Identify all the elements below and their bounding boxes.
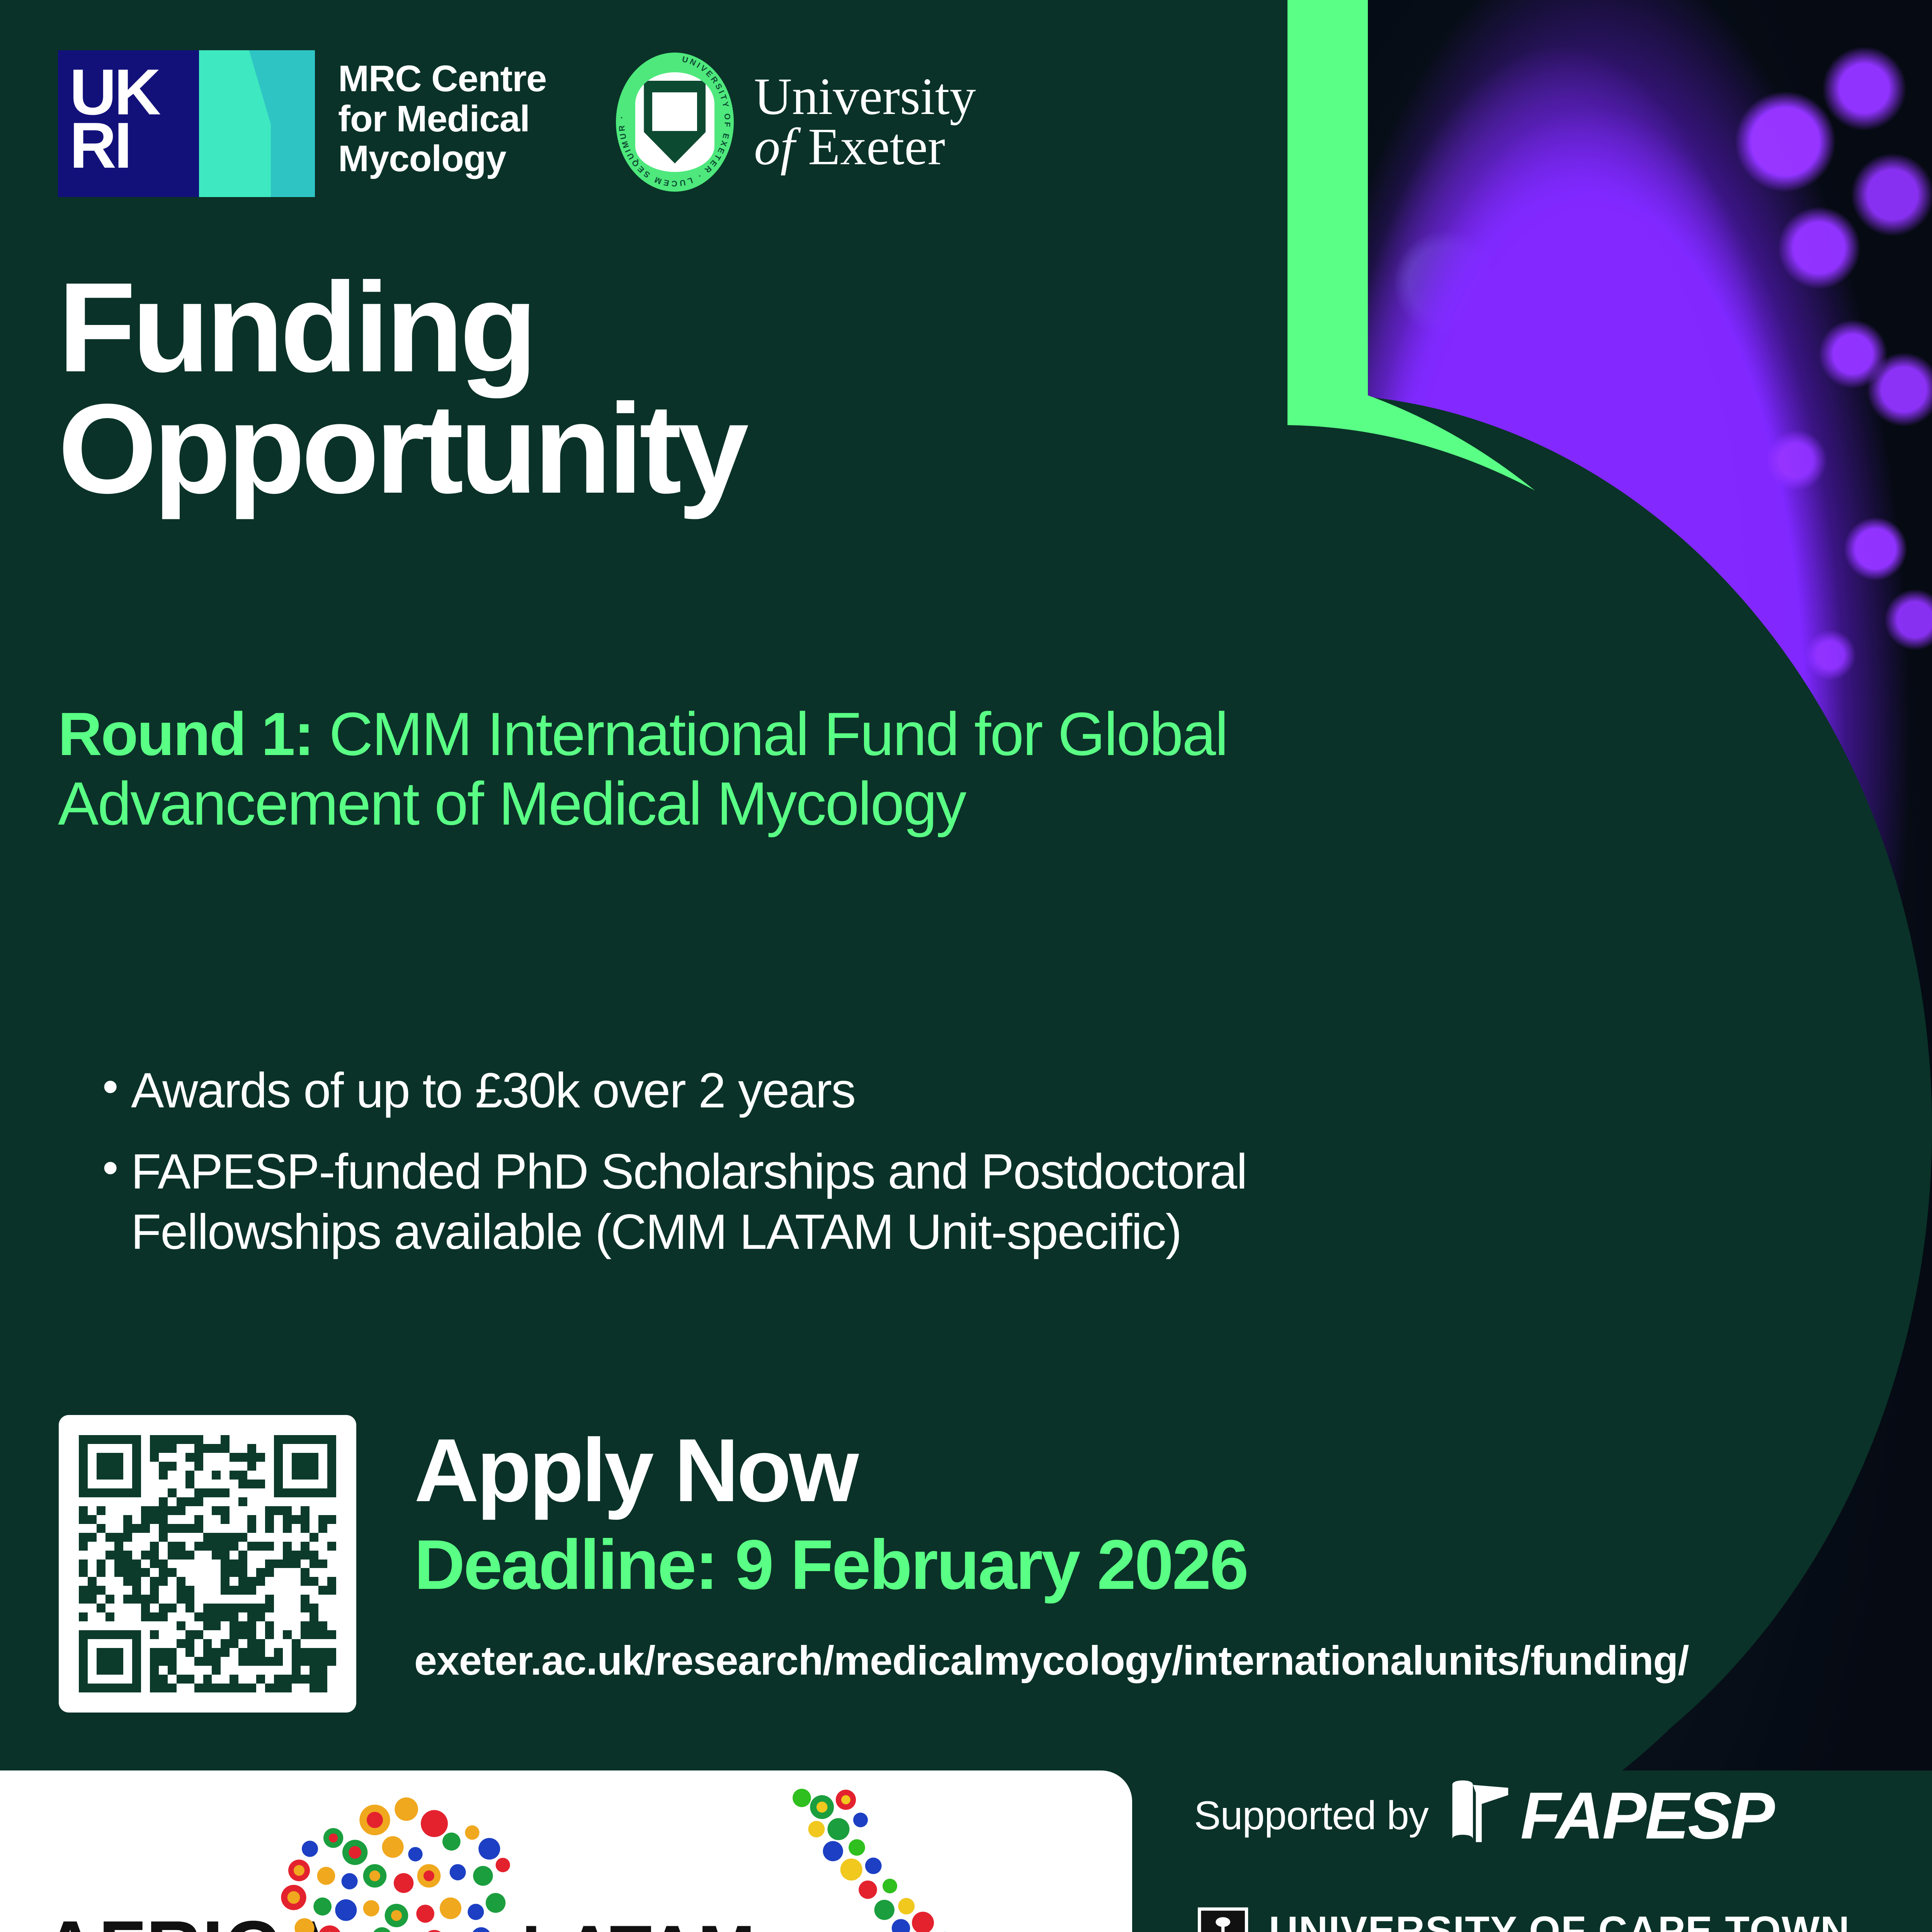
mrc-line-2: for Medical [338,99,546,139]
deadline-text: Deadline: 9 February 2026 [414,1529,1247,1600]
sponsors-block: Supported by FAPESP [1194,1777,1913,1932]
latin-america-map-icon [765,1776,1059,1932]
benefits-list: Awards of up to £30k over 2 years FAPESP… [102,1061,1262,1283]
uct-text-block: UNIVERSITY OF CAPE TOWN IYUNIVESITHI YAS… [1269,1911,1850,1932]
fapesp-sponsor: Supported by FAPESP [1194,1777,1913,1854]
headline-line-2: Opportunity [58,388,745,509]
header-logos: UKRI MRC Centre for Medical Mycology [58,50,976,197]
ukri-logo: UKRI [58,50,315,197]
supported-by-label: Supported by [1194,1793,1429,1839]
unit-logos-row: AFRICA CMM MEDICAL MYCOLOGY UNIT [0,1770,1132,1932]
poster: UKRI MRC Centre for Medical Mycology [0,0,1932,1932]
list-item: FAPESP-funded PhD Scholarships and Postd… [102,1142,1262,1262]
application-url[interactable]: exeter.ac.uk/research/medicalmycology/in… [414,1638,1689,1684]
round-label: Round 1: [58,700,313,768]
uct-sponsor: SPES BONA UNIVERSITY OF CAPE TOWN IYUNIV… [1194,1904,1913,1932]
africa-unit-name: AFRICA [43,1910,498,1932]
mrc-line-1: MRC Centre [338,59,546,99]
ukri-logo-box: UKRI [58,50,199,197]
headline-line-1: Funding [58,267,745,388]
ukri-logo-shape [199,50,315,197]
subtitle: Round 1: CMM International Fund for Glob… [58,699,1264,838]
qr-code[interactable] [59,1415,356,1713]
qr-code-matrix [79,1435,336,1692]
exeter-word-line2: of Exeter [754,122,976,172]
fapesp-logo: FAPESP [1446,1777,1774,1854]
exeter-crest-icon: UNIVERSITY OF EXETER · LUCEM SEQUIMUR · [616,53,734,192]
exeter-word-exeter: Exeter [808,118,945,176]
mrc-line-3: Mycology [338,139,546,179]
uct-shield-icon: SPES BONA [1194,1904,1252,1932]
exeter-shield-icon [644,81,706,163]
apply-now-heading: Apply Now [414,1426,857,1515]
fapesp-book-icon [1446,1779,1527,1852]
exeter-word-line1: University [754,72,976,122]
exeter-word-of: of [754,118,795,176]
fapesp-wordmark: FAPESP [1520,1777,1774,1854]
africa-unit-logo: AFRICA CMM MEDICAL MYCOLOGY UNIT [43,1910,498,1932]
ukri-wordmark: UKRI [58,50,199,197]
list-item: Awards of up to £30k over 2 years [102,1061,1262,1121]
exeter-crest-inner [635,72,714,172]
university-of-exeter-logo: UNIVERSITY OF EXETER · LUCEM SEQUIMUR · … [616,50,976,192]
page-title: Funding Opportunity [58,267,745,509]
uct-name: UNIVERSITY OF CAPE TOWN [1269,1911,1850,1932]
photo-panel [1287,0,1932,1770]
latam-unit-logo: LATAM CMM MEDICAL MYCOLOGY UNIT [522,1915,978,1932]
exeter-wordmark: University of Exeter [754,72,976,172]
mrc-centre-title: MRC Centre for Medical Mycology [338,50,546,179]
units-panel: AFRICA CMM MEDICAL MYCOLOGY UNIT [0,1770,1132,1932]
latam-unit-name: LATAM [522,1915,978,1932]
